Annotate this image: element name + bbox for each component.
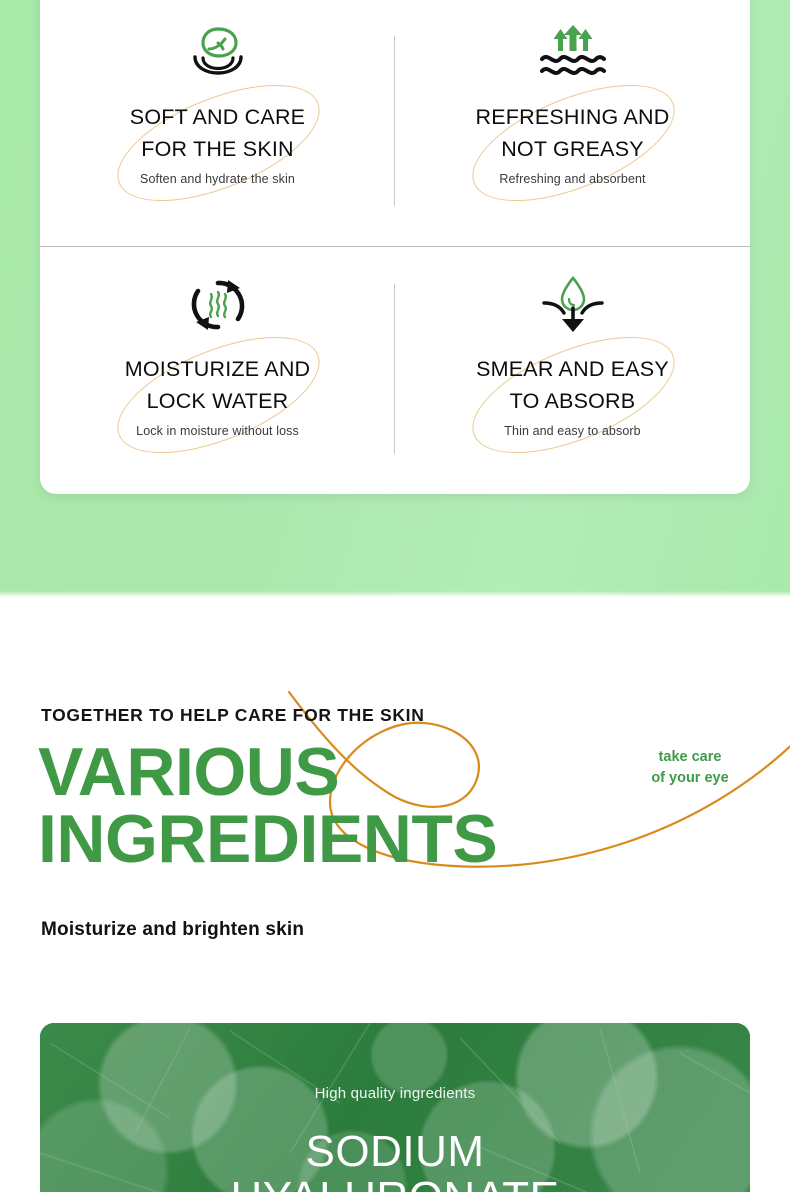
feature-title-line2: TO ABSORB	[510, 389, 636, 413]
feature-title-line2: NOT GREASY	[501, 137, 644, 161]
feature-text-block: SOFT AND CARE FOR THE SKIN Soften and hy…	[40, 102, 395, 186]
vertical-divider-bottom	[394, 284, 395, 454]
ingredients-subtitle: Moisturize and brighten skin	[41, 919, 304, 941]
ingredient-card-title-line1: SODIUM	[306, 1127, 485, 1176]
ingredient-card-kicker: High quality ingredients	[40, 1085, 750, 1102]
feature-title-line2: FOR THE SKIN	[141, 137, 294, 161]
feature-text-block: REFRESHING AND NOT GREASY Refreshing and…	[395, 102, 750, 186]
feature-subtitle: Lock in moisture without loss	[40, 424, 395, 438]
feature-cell-smear-easy-absorb[interactable]: SMEAR AND EASY TO ABSORB Thin and easy t…	[395, 246, 750, 494]
ingredients-title-line2: INGREDIENTS	[38, 806, 738, 873]
ingredients-title-line1: VARIOUS	[38, 734, 339, 810]
feature-title: SOFT AND CARE FOR THE SKIN	[40, 102, 395, 165]
feature-title-line2: LOCK WATER	[147, 389, 289, 413]
feature-cell-moisturize-lock-water[interactable]: MOISTURIZE AND LOCK WATER Lock in moistu…	[40, 246, 395, 494]
feature-cell-soft-and-care[interactable]: SOFT AND CARE FOR THE SKIN Soften and hy…	[40, 0, 395, 246]
feature-title: SMEAR AND EASY TO ABSORB	[395, 354, 750, 417]
eye-care-note-line1: take care	[620, 747, 760, 768]
eye-care-note: take care of your eye	[620, 747, 760, 789]
droplet-absorb-icon	[541, 276, 605, 334]
vertical-divider-top	[394, 36, 395, 206]
cycle-moisture-icon	[189, 276, 247, 334]
features-grid: SOFT AND CARE FOR THE SKIN Soften and hy…	[40, 0, 750, 494]
ingredient-hero-card: High quality ingredients SODIUM HYALURON…	[40, 1023, 750, 1192]
eye-care-note-line2: of your eye	[620, 768, 760, 789]
arrows-waves-icon	[536, 22, 610, 80]
features-card: SOFT AND CARE FOR THE SKIN Soften and hy…	[40, 0, 750, 494]
feature-title: REFRESHING AND NOT GREASY	[395, 102, 750, 165]
feature-subtitle: Thin and easy to absorb	[395, 424, 750, 438]
ingredient-card-title-line2: HYALURONATE	[40, 1175, 750, 1192]
feature-text-block: SMEAR AND EASY TO ABSORB Thin and easy t…	[395, 354, 750, 438]
ingredient-card-title: SODIUM HYALURONATE	[40, 1129, 750, 1192]
feature-title-line1: SOFT AND CARE	[130, 105, 305, 129]
feature-text-block: MOISTURIZE AND LOCK WATER Lock in moistu…	[40, 354, 395, 438]
leaf-ripple-icon	[182, 22, 254, 80]
feature-subtitle: Soften and hydrate the skin	[40, 172, 395, 186]
product-feature-page: SOFT AND CARE FOR THE SKIN Soften and hy…	[0, 0, 790, 1192]
feature-title-line1: REFRESHING AND	[476, 105, 670, 129]
horizontal-divider	[40, 246, 750, 247]
feature-subtitle: Refreshing and absorbent	[395, 172, 750, 186]
feature-title: MOISTURIZE AND LOCK WATER	[40, 354, 395, 417]
feature-cell-refreshing-not-greasy[interactable]: REFRESHING AND NOT GREASY Refreshing and…	[395, 0, 750, 246]
feature-title-line1: MOISTURIZE AND	[125, 357, 311, 381]
feature-title-line1: SMEAR AND EASY	[476, 357, 669, 381]
ingredients-kicker: TOGETHER TO HELP CARE FOR THE SKIN	[41, 705, 425, 726]
